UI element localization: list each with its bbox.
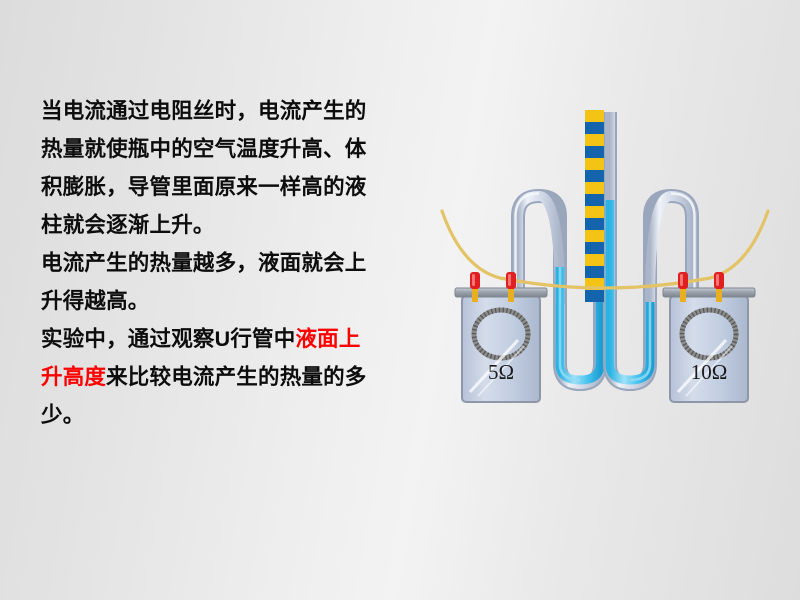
- text-line: 少。: [41, 396, 421, 434]
- text-line: 热量就使瓶中的空气温度升高、体: [41, 130, 421, 168]
- text-highlight-segment: 升高度: [41, 365, 106, 389]
- measuring-scale: [585, 110, 604, 302]
- right-outer-wire: [710, 211, 768, 278]
- experiment-diagram: 5Ω 10Ω: [440, 92, 770, 412]
- text-line: 当电流通过电阻丝时，电流产生的: [41, 92, 421, 130]
- right-bottle-label: 10Ω: [691, 360, 728, 384]
- left-bottle: 5Ω: [455, 272, 547, 402]
- text-line: 柱就会逐渐上升。: [41, 206, 421, 244]
- text-line: 积膨胀，导管里面原来一样高的液: [41, 168, 421, 206]
- text-line-with-highlight: 升高度来比较电流产生的热量的多: [41, 358, 421, 396]
- lesson-text-block: 当电流通过电阻丝时，电流产生的 热量就使瓶中的空气温度升高、体 积膨胀，导管里面…: [41, 92, 421, 434]
- text-plain-segment: 来比较电流产生的热量的多: [106, 365, 366, 389]
- text-plain-segment: 实验中，通过观察U行管中: [41, 327, 295, 351]
- slide-root: 当电流通过电阻丝时，电流产生的 热量就使瓶中的空气温度升高、体 积膨胀，导管里面…: [0, 0, 800, 600]
- right-connecting-tube: [650, 194, 695, 305]
- text-line: 电流产生的热量越多，液面就会上: [41, 244, 421, 282]
- text-line: 升得越高。: [41, 282, 421, 320]
- text-highlight-segment: 液面上: [295, 327, 360, 351]
- left-outer-wire: [442, 211, 500, 278]
- text-line-with-highlight: 实验中，通过观察U行管中液面上: [41, 320, 421, 358]
- right-bottle: 10Ω: [663, 272, 755, 402]
- left-connecting-tube: [516, 194, 561, 305]
- left-bottle-label: 5Ω: [488, 360, 514, 384]
